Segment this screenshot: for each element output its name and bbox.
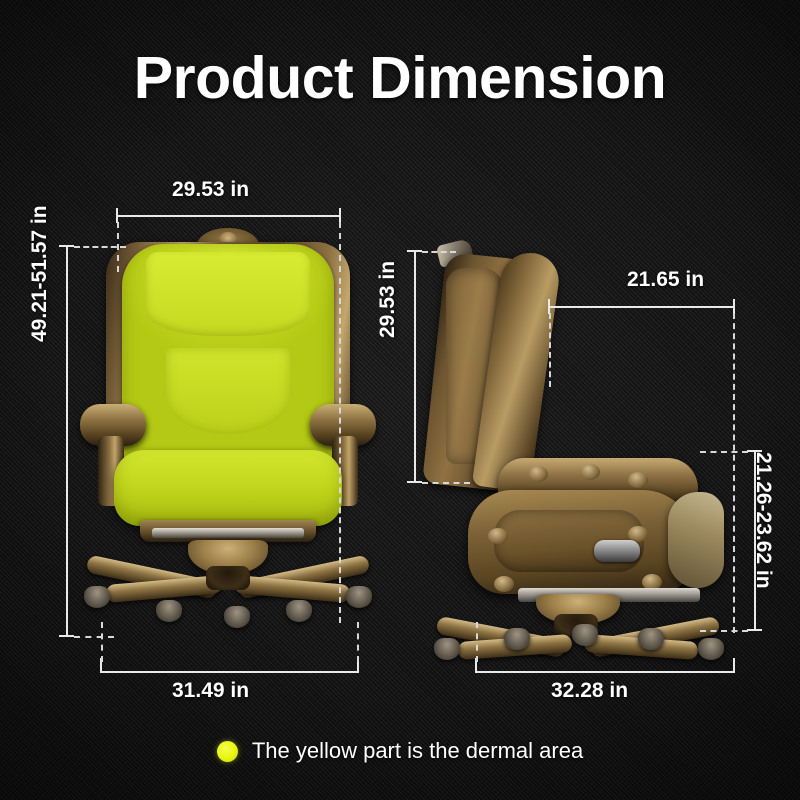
dimension-line-side-width-bottom — [476, 671, 734, 673]
dimension-cap — [747, 629, 762, 631]
dimension-cap — [747, 450, 762, 452]
dimension-cap — [407, 481, 422, 483]
extension-line — [700, 451, 748, 453]
legend-text: The yellow part is the dermal area — [252, 738, 583, 764]
extension-line — [733, 313, 735, 633]
dimension-line-side-seat-height — [754, 451, 756, 630]
dimension-label-side-width-bottom: 32.28 in — [551, 679, 628, 703]
side-view-dimension-annotations: 29.53 in 21.65 in 21.26-23.62 in 32.28 i… — [0, 0, 800, 800]
dimension-cap — [407, 250, 422, 252]
extension-line — [422, 482, 470, 484]
dimension-cap — [733, 658, 735, 673]
extension-line — [549, 313, 551, 387]
extension-line — [476, 622, 478, 662]
extension-line — [422, 251, 456, 253]
yellow-dot-icon — [217, 741, 238, 762]
dimension-label-side-depth-top: 21.65 in — [627, 268, 704, 292]
dimension-line-side-back-height — [414, 251, 416, 482]
dimension-cap — [733, 299, 735, 314]
dimension-label-side-back-height: 29.53 in — [376, 261, 400, 338]
extension-line — [700, 630, 748, 632]
legend-note: The yellow part is the dermal area — [0, 738, 800, 764]
dimension-line-side-depth-top — [549, 306, 735, 308]
dimension-cap — [548, 299, 550, 314]
